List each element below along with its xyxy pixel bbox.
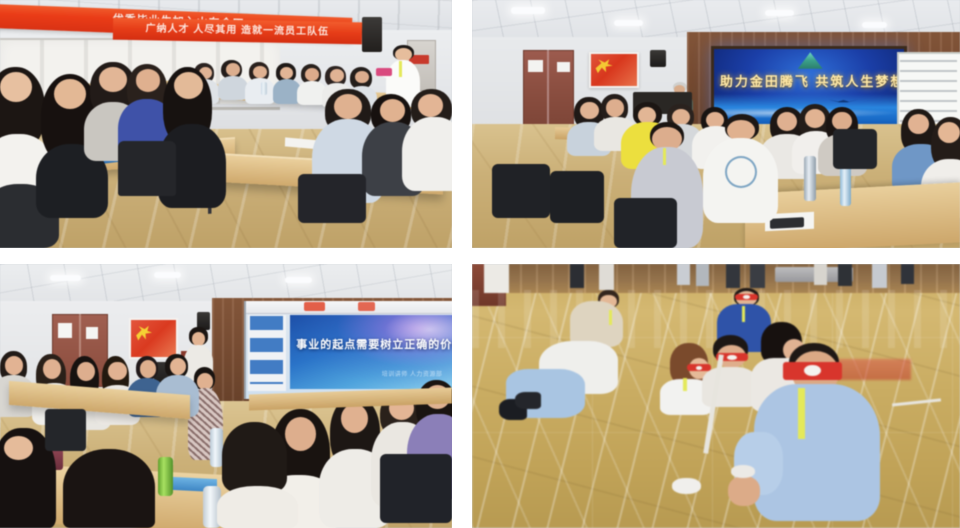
photo-bl-scene: 事业的起点需要树立正确的价值观 培训讲师 人力资源部 — [0, 264, 452, 528]
chair-right — [380, 454, 452, 523]
photo-br-scene — [472, 264, 960, 528]
foreground-person-center — [63, 449, 162, 528]
photo-blindfold-team-building-game[interactable] — [472, 264, 960, 528]
foreground-person-white-tee — [701, 114, 779, 223]
white-shoe-2 — [731, 465, 755, 478]
photo-collage: 优秀毕业生加入山东金田 广纳人才 人尽其用 造就一流员工队伍 — [0, 0, 960, 528]
chair-4 — [833, 129, 877, 169]
chair-2 — [550, 171, 604, 223]
photo-tr-scene: 助力金田腾飞 共筑人生梦想 — [472, 0, 960, 248]
photo-lecture-projection-room[interactable]: 事业的起点需要树立正确的价值观 培训讲师 人力资源部 — [0, 264, 452, 528]
chair-front-left — [118, 141, 177, 196]
chair-3 — [614, 198, 677, 248]
foreground-person-blue-shirt-blindfolded — [745, 343, 891, 528]
water-bottle-2 — [840, 164, 851, 206]
kneeling-person-white-denim — [501, 341, 628, 436]
chair-1 — [492, 164, 551, 219]
foreground-person-right — [217, 422, 298, 528]
red-blindfold-icon — [783, 362, 842, 380]
chair-front-right — [298, 174, 366, 224]
white-shoe-1 — [672, 478, 701, 494]
water-bottle-1 — [804, 156, 816, 201]
crowd-front-right — [0, 0, 452, 248]
photo-classroom-welcome-banner[interactable]: 优秀毕业生加入山东金田 广纳人才 人尽其用 造就一流员工队伍 — [0, 0, 452, 248]
photo-tl-scene: 优秀毕业生加入山东金田 广纳人才 人尽其用 造就一流员工队伍 — [0, 0, 452, 248]
red-blindfold-icon — [735, 294, 758, 300]
photo-led-screen-assembly[interactable]: 助力金田腾飞 共筑人生梦想 — [472, 0, 960, 248]
chair-left — [45, 409, 86, 451]
